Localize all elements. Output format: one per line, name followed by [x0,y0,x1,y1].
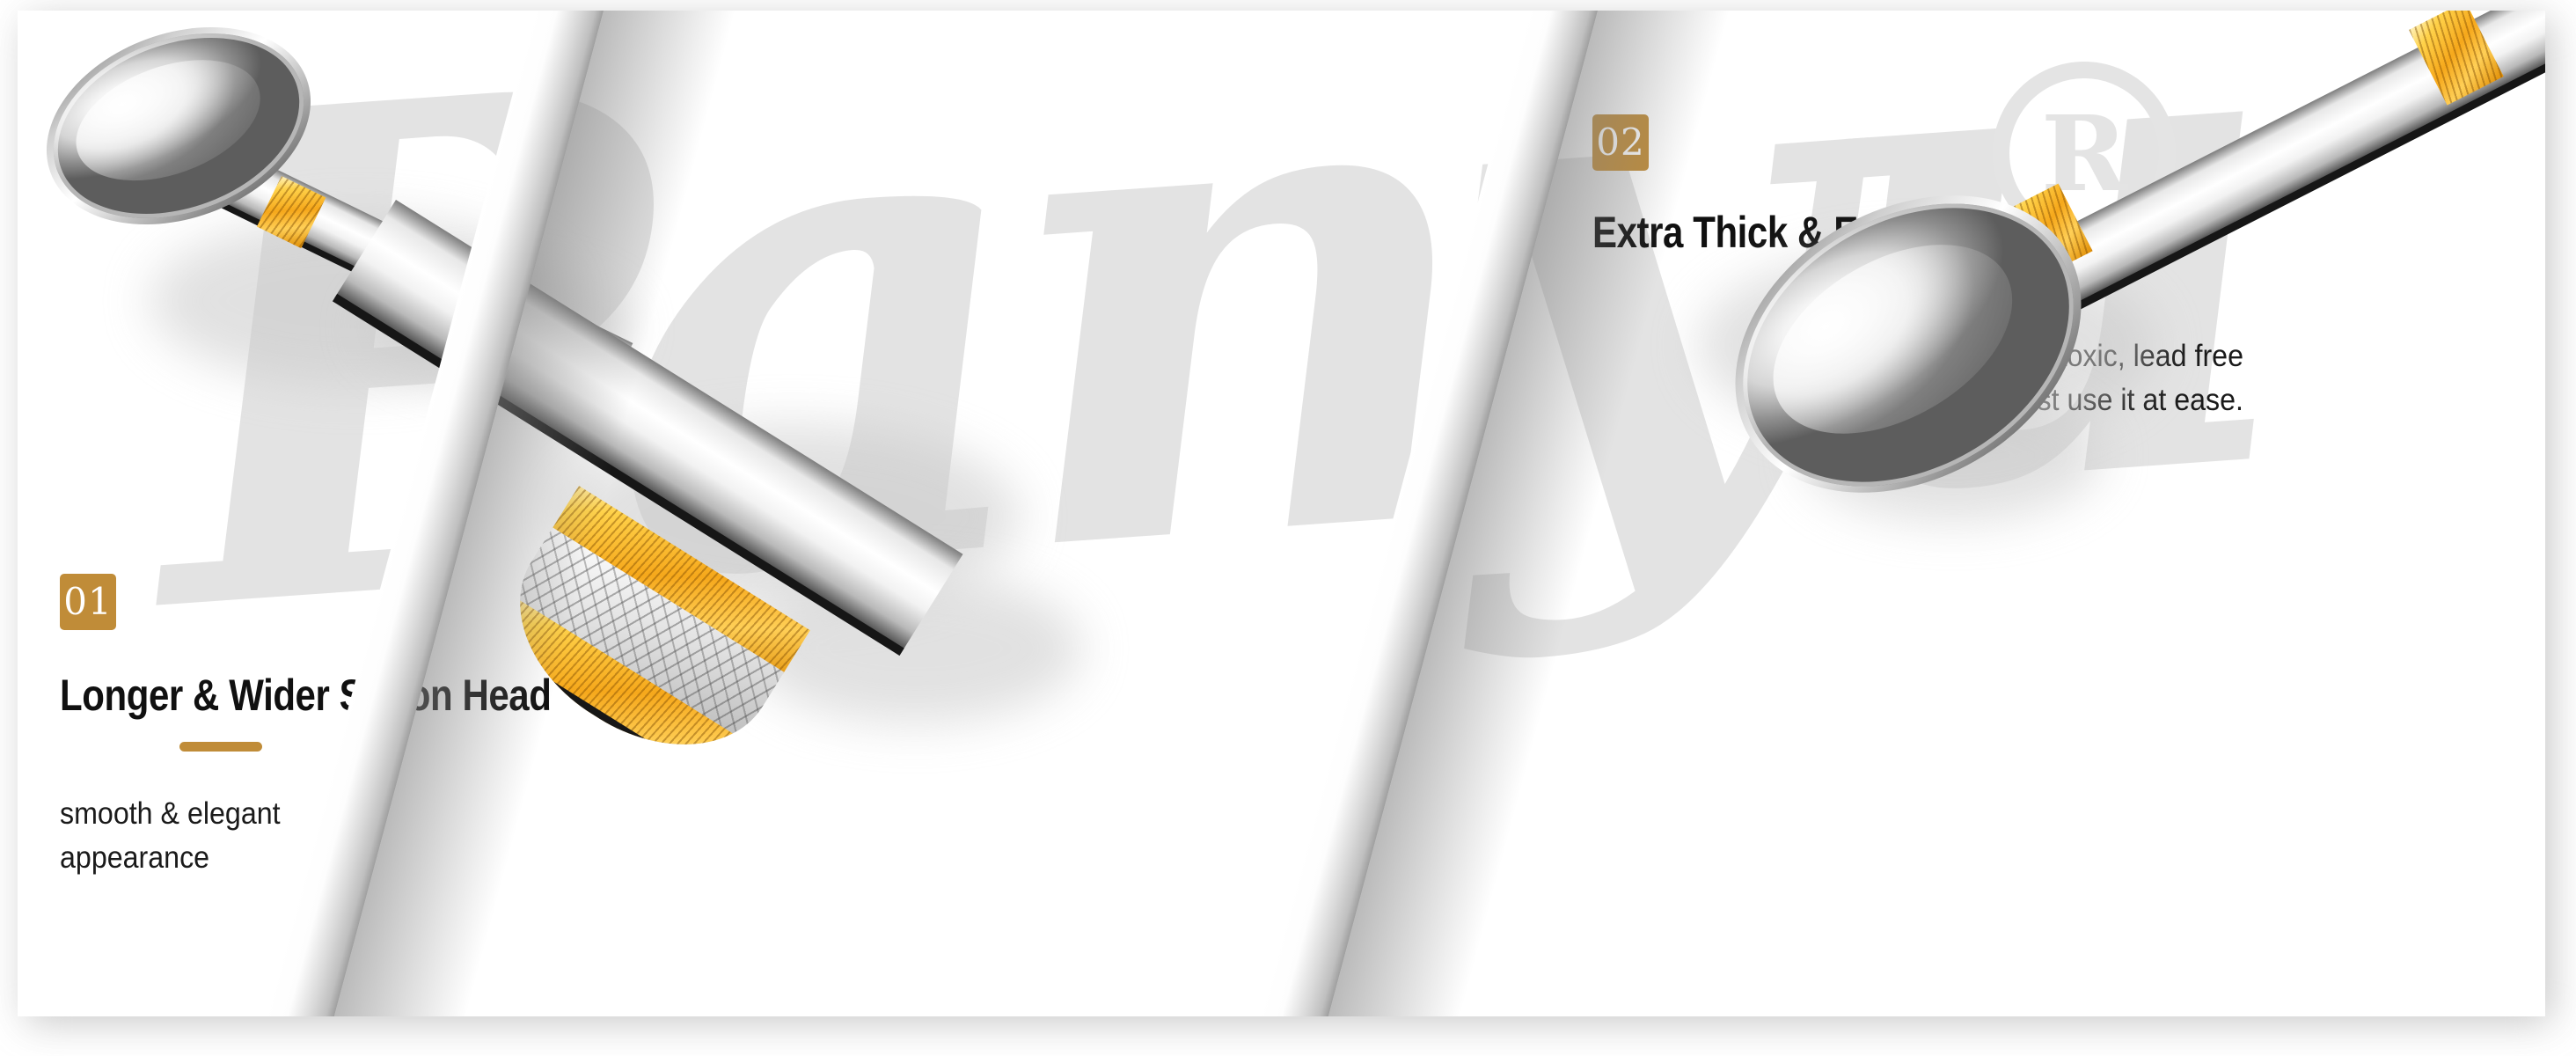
feature-1-heading: Longer & Wider Spoon Head [60,672,385,719]
infographic-banner: Panyu R [0,0,2576,1056]
feature-1-number-badge: 01 [60,574,116,630]
feature-1-accent-dash [179,742,262,752]
infographic-card: Panyu R [18,11,2545,1016]
